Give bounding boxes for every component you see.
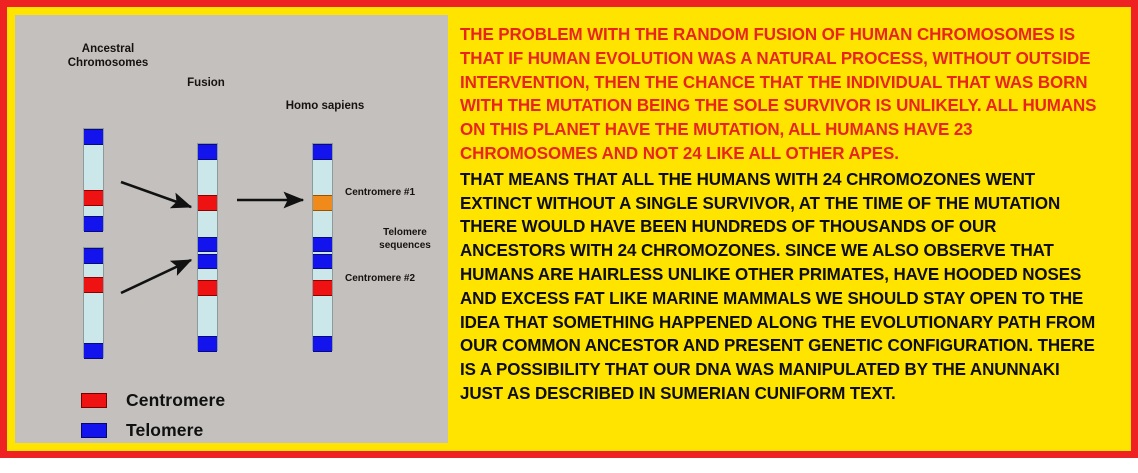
band-chromatin: [313, 160, 332, 195]
band-centromere: [313, 280, 332, 296]
band-telomere: [84, 216, 103, 232]
poster-frame: Ancestral Chromosomes Fusion Homo sapien…: [0, 0, 1138, 458]
band-chromatin: [84, 293, 103, 343]
band-chromatin: [198, 160, 217, 195]
legend-label-centromere: Centromere: [126, 390, 225, 411]
band-chromatin: [198, 296, 217, 336]
band-centromere: [84, 277, 103, 293]
band-chromatin: [313, 211, 332, 237]
legend-item-centromere: Centromere: [81, 390, 225, 411]
band-chromatin: [198, 211, 217, 237]
band-centromere: [84, 190, 103, 206]
band-chromatin: [313, 296, 332, 336]
band-chromatin: [84, 145, 103, 190]
band-telomere: [313, 237, 332, 252]
legend-swatch-centromere: [81, 393, 107, 408]
message-paragraph-red: THE PROBLEM WITH THE RANDOM FUSION OF HU…: [460, 23, 1098, 166]
band-telomere: [84, 129, 103, 145]
label-fusion: Fusion: [158, 77, 254, 91]
band-centromere: [198, 280, 217, 296]
legend-swatch-telomere: [81, 423, 107, 438]
chromosome-fusion-diagram: Ancestral Chromosomes Fusion Homo sapien…: [15, 15, 448, 443]
label-homo-sapiens: Homo sapiens: [260, 100, 390, 114]
chromosome-fusion: [197, 143, 218, 351]
message-panel: THE PROBLEM WITH THE RANDOM FUSION OF HU…: [448, 15, 1131, 443]
band-telomere: [198, 336, 217, 352]
callout-centromere-2: Centromere #2: [345, 273, 450, 286]
poster-inner-frame: Ancestral Chromosomes Fusion Homo sapien…: [7, 7, 1131, 451]
band-telomere: [198, 254, 217, 269]
band-telomere: [313, 254, 332, 269]
band-centromere-2: [313, 195, 332, 211]
chromosome-ancestral-lower: [83, 247, 104, 358]
band-chromatin: [84, 264, 103, 277]
callout-telomere-sequences: Telomere sequences: [360, 227, 450, 252]
arrow-upper-to-fusion: [121, 182, 191, 207]
band-centromere: [198, 195, 217, 211]
band-chromatin: [198, 269, 217, 280]
band-telomere: [84, 343, 103, 359]
chromosome-homo-sapiens: [312, 143, 333, 351]
chromosome-ancestral-upper: [83, 128, 104, 231]
band-chromatin: [84, 206, 103, 216]
band-telomere: [198, 237, 217, 252]
message-paragraph-black: THAT MEANS THAT ALL THE HUMANS WITH 24 C…: [460, 168, 1098, 406]
legend-label-telomere: Telomere: [126, 420, 203, 441]
legend-item-telomere: Telomere: [81, 420, 203, 441]
callout-centromere-1: Centromere #1: [345, 187, 445, 200]
label-ancestral-chromosomes: Ancestral Chromosomes: [53, 43, 163, 70]
band-telomere: [84, 248, 103, 264]
band-telomere: [313, 144, 332, 160]
arrow-lower-to-fusion: [121, 260, 191, 293]
band-chromatin: [313, 269, 332, 280]
band-telomere: [313, 336, 332, 352]
band-telomere: [198, 144, 217, 160]
